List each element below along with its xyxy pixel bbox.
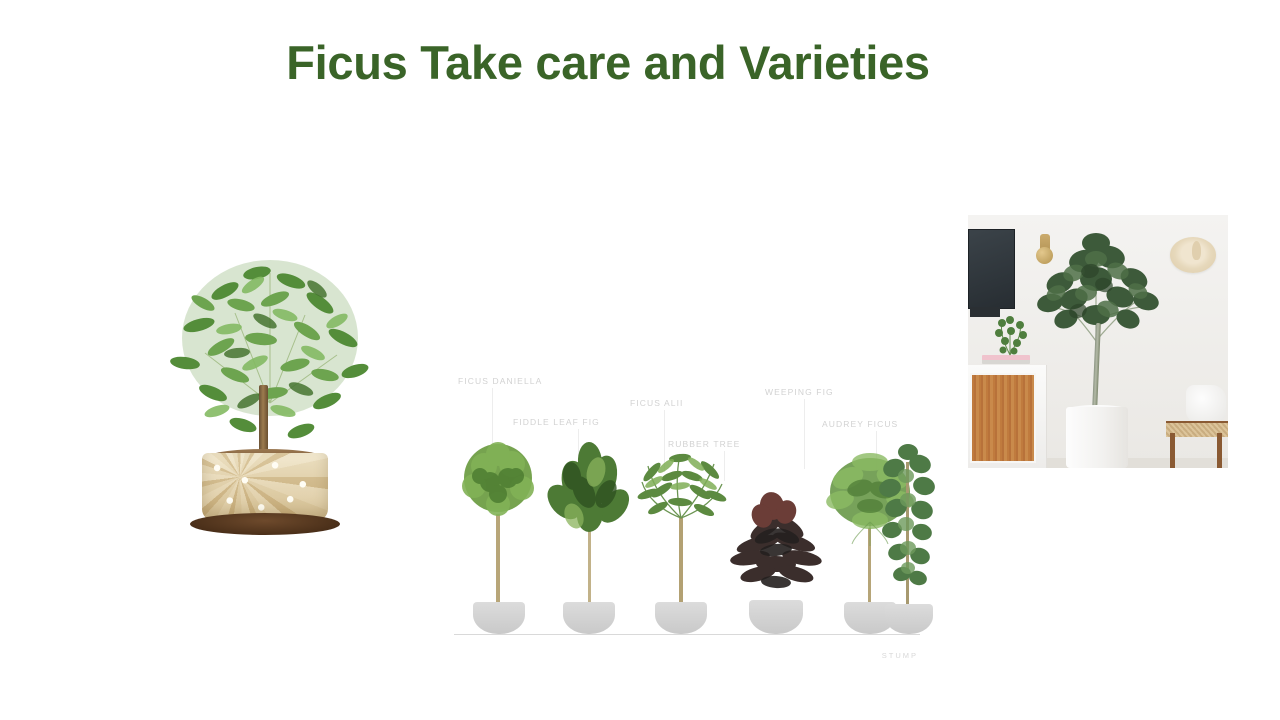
ficus-varieties-diagram: FICUS DANIELLA FIDDLE LEAF FIG FICUS ALI… <box>432 366 932 666</box>
variety-plant-ficus-alii <box>634 432 728 634</box>
benjamina-saucer <box>190 513 340 535</box>
page-title: Ficus Take care and Varieties <box>0 36 1216 90</box>
trailing-houseplant <box>990 315 1032 359</box>
stump-watermark: STUMP <box>882 651 918 660</box>
variety-label-ficus-daniella: FICUS DANIELLA <box>458 376 542 386</box>
bench-pillow <box>1186 385 1226 423</box>
variety-plant-ficus-daniella <box>454 432 544 634</box>
ficus-audrey-interior-photo <box>968 215 1228 468</box>
wall-tv <box>968 229 1015 309</box>
bench-leg-left <box>1170 433 1175 468</box>
ficus-benjamina-photo <box>150 235 390 545</box>
variety-plant-audrey-ficus <box>872 432 946 634</box>
variety-label-audrey-ficus: AUDREY FICUS <box>822 419 898 429</box>
variety-label-weeping-fig: WEEPING FIG <box>765 387 834 397</box>
variety-plant-rubber-tree <box>728 432 824 634</box>
variety-plant-fiddle-leaf-fig <box>544 432 634 634</box>
slide-canvas: Ficus Take care and Varieties <box>0 0 1280 720</box>
sun-hat-crown <box>1192 241 1201 260</box>
credenza-wood-panel <box>970 373 1036 463</box>
diagram-ground-line <box>454 634 920 635</box>
variety-label-fiddle-leaf-fig: FIDDLE LEAF FIG <box>513 417 600 427</box>
woven-bench <box>1166 411 1228 468</box>
trailing-plant-svg <box>990 315 1032 359</box>
benjamina-mosaic-pot <box>202 453 328 521</box>
audrey-white-planter <box>1066 407 1128 468</box>
variety-label-ficus-alii: FICUS ALII <box>630 398 684 408</box>
bench-leg-right <box>1217 433 1222 468</box>
